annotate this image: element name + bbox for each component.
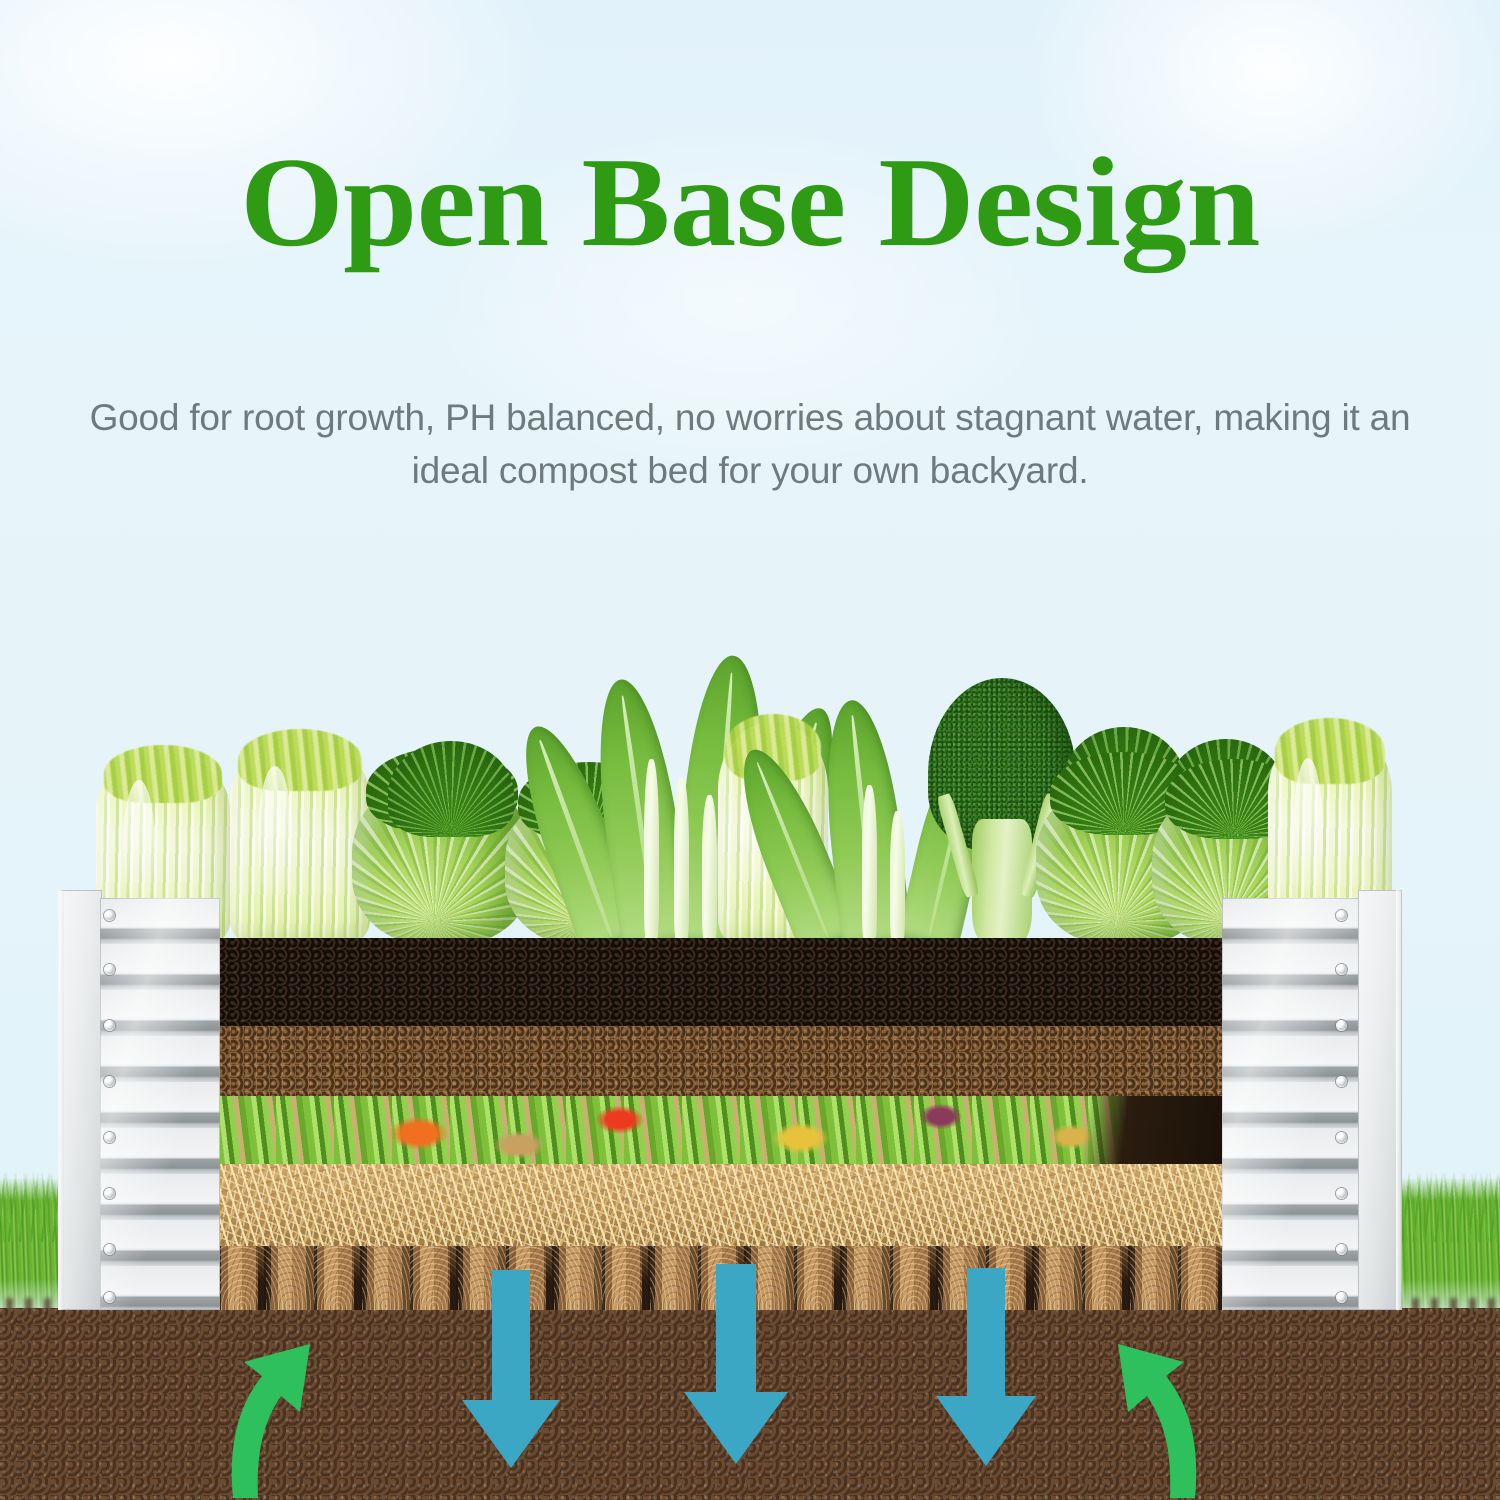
screw-icon bbox=[104, 1076, 115, 1087]
drainage-arrow-down-3 bbox=[936, 1268, 1036, 1466]
screw-icon bbox=[1336, 1076, 1347, 1087]
screw-icon bbox=[1336, 1188, 1347, 1199]
drainage-arrow-down-1 bbox=[462, 1270, 560, 1468]
layer-kitchen-scraps bbox=[218, 1096, 1222, 1164]
layer-straw bbox=[218, 1164, 1222, 1246]
layer-topsoil bbox=[218, 938, 1222, 1026]
airflow-arrow-up-left bbox=[232, 1344, 310, 1498]
airflow-arrow-up-right bbox=[1118, 1344, 1196, 1498]
screw-icon bbox=[1336, 1020, 1347, 1031]
screw-icon bbox=[1336, 964, 1347, 975]
screw-icon bbox=[1336, 1132, 1347, 1143]
page-title: Open Base Design bbox=[0, 138, 1500, 266]
screw-icon bbox=[104, 964, 115, 975]
airflow-drainage-arrows bbox=[0, 1240, 1500, 1500]
screw-icon bbox=[104, 1188, 115, 1199]
layer-compost bbox=[218, 1026, 1222, 1096]
screw-icon bbox=[104, 1132, 115, 1143]
screw-icon bbox=[104, 910, 115, 921]
screw-icon bbox=[1336, 910, 1347, 921]
product-feature-image: Open Base Design Good for root growth, P… bbox=[0, 0, 1500, 1500]
page-subtitle: Good for root growth, PH balanced, no wo… bbox=[70, 392, 1430, 497]
drainage-arrow-down-2 bbox=[684, 1264, 788, 1464]
screw-icon bbox=[104, 1020, 115, 1031]
